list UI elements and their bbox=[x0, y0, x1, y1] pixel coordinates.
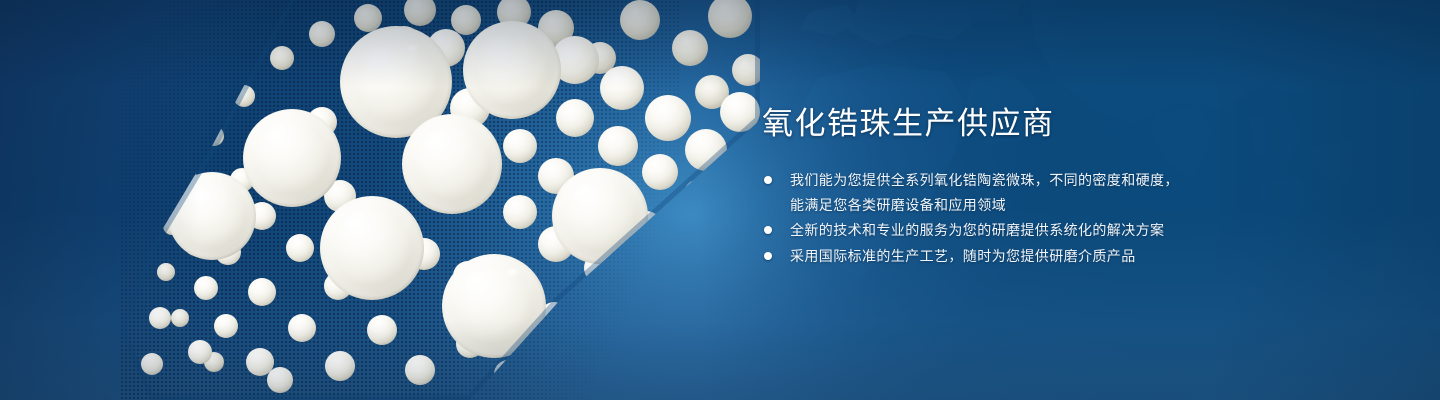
banner-vignette bbox=[0, 0, 1440, 400]
hero-banner: 氧化锆珠生产供应商 我们能为您提供全系列氧化锆陶瓷微珠，不同的密度和硬度， 能满… bbox=[0, 0, 1440, 400]
